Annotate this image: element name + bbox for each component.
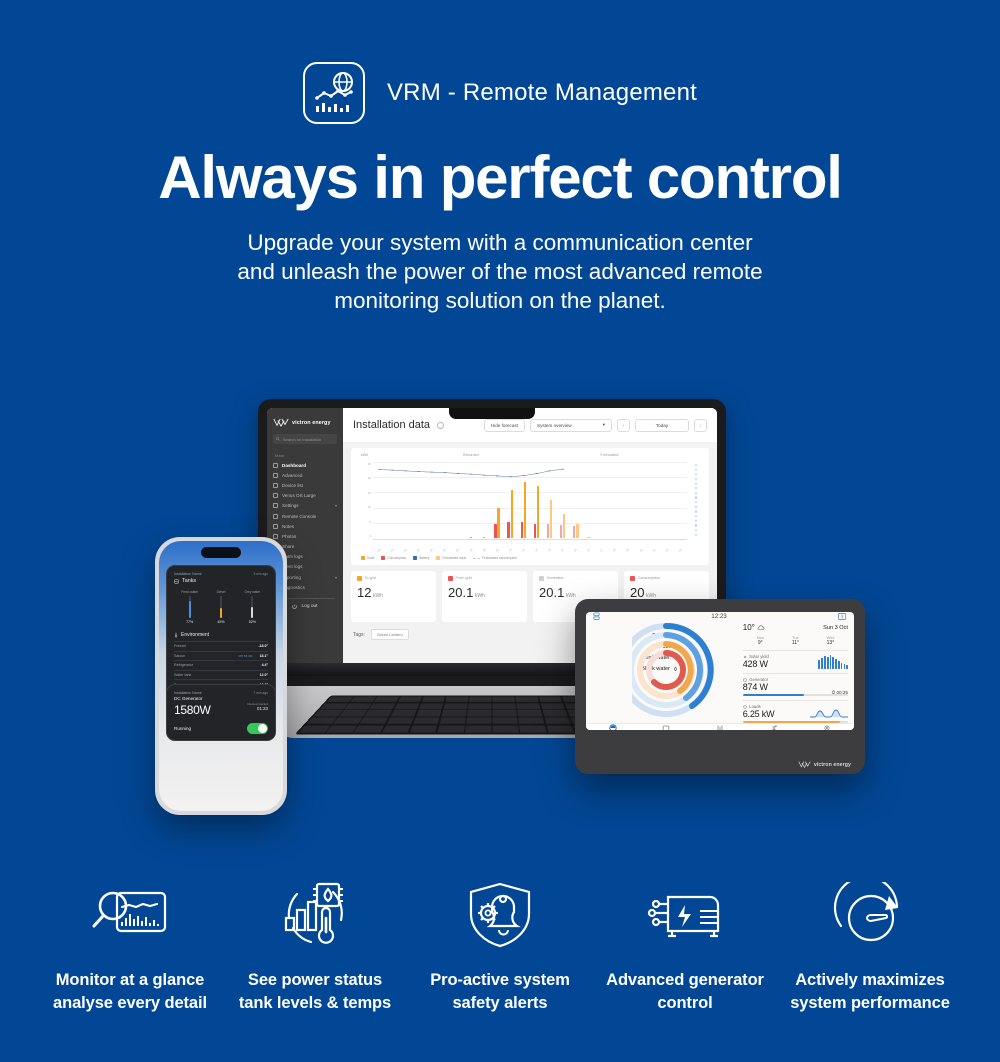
generator-bolt-icon (642, 875, 728, 955)
overview-icon (662, 724, 670, 730)
installation-name: Installation Name (174, 691, 202, 695)
search-placeholder: Search an installation (283, 437, 321, 442)
forecast-day-tue: Tue11° (778, 636, 813, 646)
chevron-down-icon: ▾ (335, 503, 337, 508)
keyboard-key[interactable] (333, 717, 362, 724)
keyboard-key[interactable] (410, 725, 438, 732)
laptop-notch (449, 408, 535, 419)
today-button[interactable]: Today (635, 419, 689, 432)
toggle-knob (258, 724, 267, 733)
sidebar-item-label: Settings (282, 503, 299, 508)
chart-header: kWh Recorded Forecasted (357, 453, 703, 460)
feature-label-line1: Monitor at a glance (53, 969, 207, 991)
phone-screen: Installation Name 3 min ago Tanks Fresh … (159, 541, 283, 811)
keyboard-key[interactable] (339, 710, 367, 716)
gx-tile-generator[interactable]: Generator 874 W ⏱ 00:25 (743, 673, 848, 696)
env-name: Freezer (174, 644, 186, 648)
env-value: 18.1° (260, 654, 268, 658)
sidebar-item-label: Remote Console (282, 514, 316, 519)
chart-unit-label: kWh (361, 453, 402, 457)
spark-bar (832, 657, 834, 669)
gx-nav-settings[interactable]: Settings (800, 724, 854, 730)
keyboard-key[interactable] (469, 697, 491, 702)
notes-icon (273, 524, 278, 529)
keyboard-key[interactable] (542, 710, 568, 716)
env-name: Water tank (174, 673, 191, 677)
y-tick: 20 (368, 476, 371, 480)
gx-screen: 12:23 Battery Fuel Fresh water Black wat… (586, 612, 854, 730)
keyboard-key[interactable] (445, 697, 468, 702)
feature-label: Actively maximizes system performance (790, 969, 950, 1014)
stat-unit: kWh (646, 593, 656, 599)
chart-marker (695, 478, 697, 480)
env-value: -18.0° (258, 644, 268, 648)
gx-radial-gauges: Battery Fuel Fresh water Black water (586, 620, 739, 723)
tank-icon (174, 579, 179, 584)
sidebar-item-dashboard[interactable]: Dashboard (267, 460, 343, 470)
dynamic-island (201, 547, 241, 558)
keyboard-key[interactable] (365, 710, 392, 716)
installation-data-title: Installation data (353, 419, 430, 431)
keyboard-key[interactable] (354, 725, 384, 732)
keyboard-key[interactable] (544, 717, 571, 724)
legend-label: Forecasted solar (442, 556, 466, 560)
to-grid-icon (357, 576, 362, 581)
env-row: SaloonRH 53.4%18.1° (174, 651, 268, 661)
keyboard-key[interactable] (386, 717, 414, 724)
keyboard-key[interactable] (350, 697, 376, 702)
spark-bar (841, 663, 843, 669)
legend-label: Battery (419, 556, 429, 560)
gx-victron-logo: victron energy (798, 761, 851, 768)
keyboard-key[interactable] (382, 725, 411, 732)
spark-bar (835, 659, 837, 669)
gx-nav-brief[interactable]: Brief (586, 724, 640, 730)
tank-label: Grey water (245, 590, 261, 594)
sidebar-item-settings[interactable]: Settings ▾ (267, 501, 343, 511)
next-period-button[interactable]: › (694, 419, 707, 432)
keyboard-key[interactable] (517, 703, 541, 709)
chart-forecasted-label: Forecasted (540, 453, 679, 457)
spark-bar (824, 656, 826, 669)
sun-icon (743, 655, 747, 659)
feature-label-line2: analyse every detail (53, 992, 207, 1014)
network-icon (593, 612, 600, 620)
page-title: Always in perfect control (0, 146, 1000, 209)
keyboard-key[interactable] (540, 703, 565, 709)
keyboard-key[interactable] (493, 703, 516, 709)
keyboard-key[interactable] (467, 710, 491, 716)
keyboard-key[interactable] (468, 703, 491, 709)
y-tick: 5 (369, 520, 371, 524)
keyboard-key[interactable] (493, 717, 518, 724)
generator-runtime: ⏱ 00:25 (832, 690, 848, 695)
tank-gauge-diesel: Diesel 45% (205, 590, 236, 624)
keyboard-key[interactable] (320, 703, 348, 709)
tag-chip[interactable]: Green Lantern (371, 629, 409, 640)
loads-icon (743, 705, 747, 709)
chart-marker (695, 501, 697, 503)
gauge-arrow-icon (831, 875, 909, 955)
sidebar-item-label: Share (282, 544, 294, 549)
gear-icon (823, 724, 831, 730)
spark-bar (838, 661, 840, 669)
levels-icon (716, 724, 724, 730)
manual-started-value: 01:23 (248, 706, 268, 711)
radial-gauge-rings (632, 618, 742, 723)
tank-value: 77% (186, 620, 193, 624)
chart-plot-area (373, 462, 687, 538)
gx-nav-levels[interactable]: Levels (693, 724, 747, 730)
tank-thermometer-icon (275, 875, 355, 955)
keyboard-key[interactable] (416, 710, 442, 716)
stat-value: 20.1 (448, 585, 473, 600)
logout-icon (292, 604, 297, 609)
advanced-icon (273, 473, 278, 478)
keyboard-key[interactable] (374, 697, 399, 702)
chart-right-markers (691, 464, 701, 536)
logout-label: Log out (301, 604, 317, 609)
generator-status: Running (174, 726, 191, 731)
dashboard-icon (273, 463, 278, 468)
sidebar-item-photos[interactable]: Photos (267, 531, 343, 541)
env-value: 12.0° (260, 673, 268, 677)
sidebar-item-remote-console[interactable]: Remote Console (267, 511, 343, 521)
consumption-icon (630, 576, 635, 581)
photos-icon (273, 534, 278, 539)
venus-os-icon (273, 493, 278, 498)
chevron-down-icon: ▾ (335, 575, 337, 580)
sidebar-item-device-list[interactable]: Device list (267, 480, 343, 490)
y-tick: 15 (368, 491, 371, 495)
forecast-day-wed: Wed13° (813, 636, 848, 646)
feature-label-line1: Actively maximizes (790, 969, 950, 991)
generator-title: DC Generator (174, 696, 268, 701)
legend-item-solar: Solar (361, 556, 374, 560)
forecast-day-temp: 11° (778, 640, 813, 646)
env-value: 4.4° (262, 663, 268, 667)
feature-label: See power status tank levels & temps (239, 969, 391, 1014)
keyboard-key[interactable] (493, 697, 515, 702)
keyboard-key[interactable] (394, 703, 419, 709)
gx-weather-current: 10° Sun 3 Oct (743, 623, 848, 632)
victron-logo: victron energy (267, 414, 343, 434)
keyboard-key[interactable] (390, 710, 416, 716)
keyboard-key[interactable] (345, 703, 372, 709)
keyboard-key[interactable] (440, 717, 466, 724)
energy-chart: 2520151050 000102030405060708091011121 (357, 460, 703, 552)
feature-label: Advanced generator control (606, 969, 764, 1014)
tanks-section-title: Tanks (174, 578, 268, 584)
y-tick: 25 (368, 462, 371, 466)
feature-label: Pro-active system safety alerts (430, 969, 570, 1014)
stat-label: Consumption (638, 576, 660, 580)
env-name: Refrigerator (174, 663, 193, 667)
subheadline: Upgrade your system with a communication… (0, 229, 1000, 315)
installation-name: Installation Name (174, 572, 202, 576)
spark-bar (830, 655, 832, 669)
spark-bar (821, 658, 823, 669)
chart-x-axis: 0001020304050607080910111213141516171819… (373, 549, 687, 552)
stat-value: 20 (630, 585, 644, 600)
keyboard-key[interactable] (437, 725, 464, 732)
stat-value: 20.1 (539, 585, 564, 600)
hide-forecast-button[interactable]: Hide forecast (484, 419, 525, 432)
feature-list: Monitor at a glance analyse every detail… (0, 875, 1000, 1014)
tank-value: 52% (249, 620, 256, 624)
brand-title: VRM - Remote Management (387, 79, 697, 107)
sidebar-group-label: Main (267, 451, 343, 460)
feature-safety-alerts: Pro-active system safety alerts (408, 875, 593, 1014)
victron-logo-mark (798, 761, 811, 768)
legend-item-battery: Battery (413, 556, 429, 560)
shield-bell-gear-icon (463, 875, 537, 955)
prev-period-button[interactable]: ‹ (617, 419, 630, 432)
chevron-down-icon: ▾ (603, 422, 605, 428)
brief-icon (609, 724, 617, 730)
keyboard-key[interactable] (465, 725, 491, 732)
chart-y-axis: 2520151050 (357, 462, 371, 538)
legend-label: Forecasted consumption (482, 556, 517, 560)
sidebar-item-advanced[interactable]: Advanced (267, 470, 343, 480)
keyboard-key[interactable] (419, 703, 444, 709)
stat-unit: kWh (373, 593, 383, 599)
device-list-icon (273, 483, 278, 488)
generator-runtime-block: Manual started 01:23 (248, 702, 268, 711)
loads-wave-icon (810, 706, 848, 718)
legend-item-consumption: Consumption (381, 556, 406, 560)
tank-gauges: Fresh water 77% Diesel 45% Grey water 52… (174, 590, 268, 624)
sidebar-item-label: Advanced (282, 473, 302, 478)
magnifier-chart-icon (87, 875, 173, 955)
chart-marker (695, 524, 697, 526)
gx-nav-notifications[interactable]: Notifications (747, 724, 801, 730)
thermometer-icon (174, 632, 178, 638)
keyboard-key[interactable] (422, 697, 446, 702)
phone-mockup: Installation Name 3 min ago Tanks Fresh … (155, 537, 287, 815)
chart-marker (695, 534, 697, 536)
settings-icon (273, 503, 278, 508)
spark-bar (846, 665, 848, 669)
keyboard-key[interactable] (326, 725, 357, 732)
tank-gauge-grey-water: Grey water 52% (237, 590, 268, 624)
tank-value: 45% (217, 620, 224, 624)
sidebar-item-label: Photos (282, 534, 296, 539)
tanks-title-text: Tanks (182, 578, 196, 584)
keyboard-key[interactable] (327, 697, 353, 702)
generator-icon (743, 678, 747, 682)
feature-label: Monitor at a glance analyse every detail (53, 969, 207, 1014)
chart-marker (695, 473, 697, 475)
legend-item-forecasted-consumption: Forecasted consumption (473, 556, 517, 560)
last-update-time: 3 min ago (254, 572, 268, 576)
current-temperature: 10° (743, 623, 755, 632)
search-icon (276, 437, 280, 441)
remote-console-icon (273, 514, 278, 519)
stat-label: From grid (456, 576, 472, 580)
system-overview-select[interactable]: System overview ▾ (530, 419, 612, 432)
keyboard-key[interactable] (360, 717, 389, 724)
tank-label: Fresh water (181, 590, 198, 594)
y-tick: 0 (369, 534, 371, 538)
spark-bar (827, 657, 829, 669)
search-input[interactable]: Search an installation (273, 434, 337, 444)
generator-runtime-value: 00:25 (836, 690, 848, 695)
keyboard-key[interactable] (520, 725, 547, 732)
generator-toggle[interactable] (247, 723, 268, 734)
keyboard-key[interactable] (493, 710, 517, 716)
tags-label: Tags: (353, 632, 365, 638)
gx-bottom-nav: Brief Overview Levels Notifications Sett… (586, 723, 854, 730)
feature-label-line2: system performance (790, 992, 950, 1014)
chart-marker (695, 464, 697, 466)
feature-maximizes-performance: Actively maximizes system performance (778, 875, 963, 1014)
environment-section-title: Environment (174, 632, 268, 638)
solar-sparkline (818, 655, 848, 669)
info-icon[interactable] (437, 422, 444, 429)
feature-generator-control: Advanced generator control (593, 875, 778, 1014)
stat-unit: kWh (566, 593, 576, 599)
battery-line-series (373, 462, 687, 538)
keyboard-key[interactable] (413, 717, 440, 724)
forecast-day-temp: 9° (743, 640, 778, 646)
gx-tile-loads[interactable]: Loads 6.25 kW (743, 700, 848, 723)
spark-bar (844, 664, 846, 669)
subheadline-line-3: monitoring solution on the planet. (0, 287, 1000, 316)
generator-icon (539, 576, 544, 581)
subheadline-line-1: Upgrade your system with a communication… (0, 229, 1000, 258)
keyboard-key[interactable] (370, 703, 396, 709)
bell-icon (770, 724, 778, 730)
spark-bar (818, 660, 820, 669)
gx-brand-text: victron energy (814, 762, 851, 768)
keyboard-key[interactable] (398, 697, 422, 702)
chart-marker (695, 506, 697, 508)
y-tick: 10 (368, 505, 371, 509)
chart-marker (695, 487, 697, 489)
legend-label: Consumption (387, 556, 406, 560)
system-overview-value: System overview (537, 423, 572, 428)
last-update-time: 7 min ago (254, 691, 268, 695)
keyboard-key[interactable] (442, 710, 467, 716)
sidebar-item-label: Dashboard (282, 463, 306, 468)
legend-label: Solar (367, 556, 374, 560)
env-row: Refrigerator4.4° (174, 660, 268, 670)
feature-label-line2: tank levels & temps (239, 992, 391, 1014)
gx-info-panel: 10° Sun 3 Oct Mon9° Tue11° Wed13° Solar … (739, 620, 854, 723)
gx-tile-solar-yield[interactable]: Solar yield 428 W (743, 650, 848, 669)
device-showcase: victron energy Search an installation Ma… (0, 387, 1000, 837)
gx-brief-view: Battery Fuel Fresh water Black water (586, 620, 854, 723)
forecast-day-mon: Mon9° (743, 636, 778, 646)
keyboard-key[interactable] (443, 703, 467, 709)
chart-marker (695, 496, 697, 498)
chart-marker (695, 492, 697, 494)
sidebar-item-venus-os-large[interactable]: Venus OS Large (267, 491, 343, 501)
feature-label-line1: See power status (239, 969, 391, 991)
legend-item-forecasted-solar: Forecasted solar (436, 556, 466, 560)
gx-nav-overview[interactable]: Overview (640, 724, 694, 730)
brand-header: VRM - Remote Management (0, 62, 1000, 124)
env-humidity: RH 53.4% (238, 654, 252, 658)
subheadline-line-2: and unleash the power of the most advanc… (0, 258, 1000, 287)
toolbar-controls: Hide forecast System overview ▾ ‹ Today … (484, 419, 707, 432)
env-name: Saloon (174, 654, 185, 658)
feature-label-line2: safety alerts (430, 992, 570, 1014)
chart-recorded-label: Recorded (402, 453, 541, 457)
stat-value: 12 (357, 585, 371, 600)
chart-marker (695, 529, 697, 531)
feature-label-line2: control (606, 992, 764, 1014)
sidebar-item-label: Notes (282, 524, 294, 529)
environment-title-text: Environment (181, 632, 209, 638)
tank-gauge-fresh-water: Fresh water 77% (174, 590, 205, 624)
energy-chart-card: kWh Recorded Forecasted 2520151050 (351, 448, 709, 565)
feature-power-status: See power status tank levels & temps (223, 875, 408, 1014)
keyboard-key[interactable] (519, 717, 545, 724)
tank-label: Diesel (217, 590, 226, 594)
chart-marker (695, 483, 697, 485)
from-grid-icon (448, 576, 453, 581)
stat-label: Generator (547, 576, 564, 580)
gx-weather-forecast: Mon9° Tue11° Wed13° (743, 636, 848, 646)
stat-card-from-grid: From grid 20.1kWh (442, 571, 527, 622)
forecast-day-temp: 13° (813, 640, 848, 646)
keyboard-key[interactable] (546, 725, 574, 732)
chart-marker (695, 515, 697, 517)
sidebar-item-notes[interactable]: Notes (267, 521, 343, 531)
env-row: Water tank12.0° (174, 670, 268, 680)
chart-marker (695, 469, 697, 471)
vrm-globe-chart-icon (303, 62, 365, 124)
keyboard-key[interactable] (539, 697, 563, 702)
gx-touch-mockup: 12:23 Battery Fuel Fresh water Black wat… (575, 599, 865, 774)
cloud-icon (757, 625, 765, 631)
env-row: Freezer-18.0° (174, 641, 268, 651)
keyboard-key[interactable] (518, 710, 543, 716)
stat-card-to-grid: To grid 12kWh (351, 571, 436, 622)
keyboard-key[interactable] (493, 725, 519, 732)
feature-monitor-at-a-glance: Monitor at a glance analyse every detail (38, 875, 223, 1014)
victron-logo-text: victron energy (292, 420, 331, 426)
stat-unit: kWh (475, 593, 485, 599)
sidebar-item-label: Device list (282, 483, 303, 488)
current-date: Sun 3 Oct (823, 625, 848, 631)
battery-icon (838, 613, 847, 620)
feature-label-line1: Pro-active system (430, 969, 570, 991)
chart-marker (695, 520, 697, 522)
keyboard-key[interactable] (466, 717, 491, 724)
stat-label: To grid (365, 576, 376, 580)
sidebar-item-label: Venus OS Large (282, 493, 316, 498)
feature-label-line1: Advanced generator (606, 969, 764, 991)
generator-widget-card[interactable]: Installation Name 7 min ago DC Generator… (166, 684, 276, 741)
chart-marker (695, 510, 697, 512)
keyboard-key[interactable] (516, 697, 539, 702)
